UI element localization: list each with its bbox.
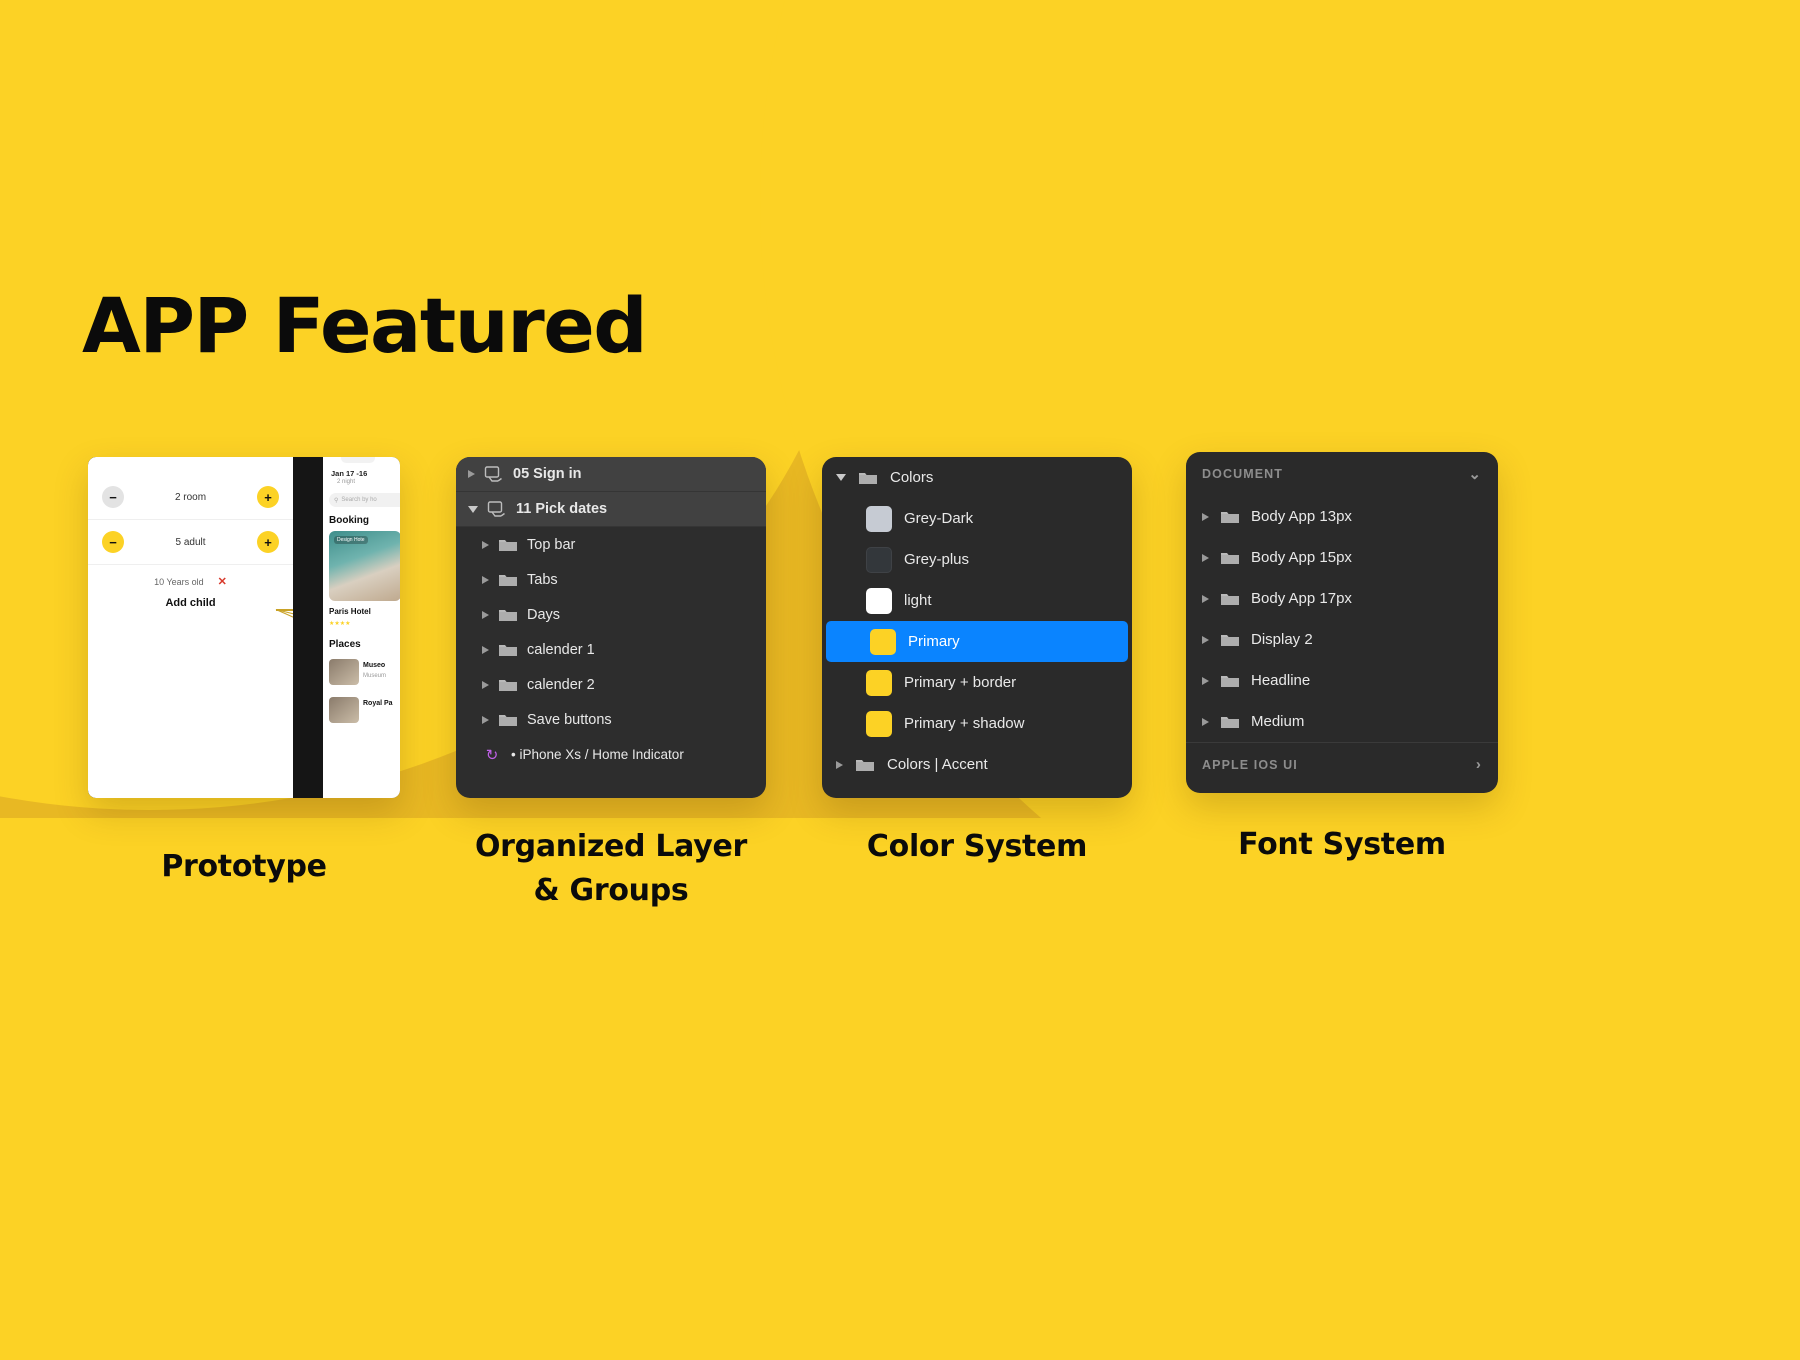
child-age-label: 10 Years old (154, 577, 204, 587)
caption-layers-line1: Organized Layer (436, 825, 786, 869)
caption-layers-line2: & Groups (436, 869, 786, 913)
folder-icon (498, 572, 518, 588)
font-section-document[interactable]: DOCUMENT ⌄ (1186, 452, 1498, 496)
place-subtitle: Museum (363, 673, 386, 679)
layer-label: 05 Sign in (513, 466, 582, 482)
color-swatch (866, 670, 892, 696)
rooms-label: 2 room (175, 492, 206, 503)
folder-icon (1220, 714, 1240, 730)
color-swatch (866, 711, 892, 737)
layer-row-group[interactable]: Top bar (456, 527, 766, 562)
layers-panel[interactable]: 05 Sign in 11 Pick dates Top bar Tabs (456, 457, 766, 798)
color-label: Primary + border (904, 674, 1016, 691)
folder-icon (1220, 509, 1240, 525)
plus-icon[interactable]: + (257, 486, 279, 508)
section-booking-title: Booking (329, 515, 369, 526)
layer-label: calender 1 (527, 642, 595, 658)
layer-label: 11 Pick dates (516, 501, 607, 517)
chevron-down-icon[interactable] (836, 474, 846, 481)
search-input[interactable]: ⚲ Search by ho (329, 493, 400, 507)
color-row-primary-shadow[interactable]: Primary + shadow (822, 703, 1132, 744)
chevron-down-icon[interactable] (468, 506, 478, 513)
color-row-grey-plus[interactable]: Grey-plus (822, 539, 1132, 580)
search-icon: ⚲ (334, 497, 338, 504)
layer-row-group[interactable]: Tabs (456, 562, 766, 597)
color-row-light[interactable]: light (822, 580, 1132, 621)
layer-label: Tabs (527, 572, 558, 588)
chevron-right-icon[interactable] (1202, 636, 1209, 644)
color-label: Primary + shadow (904, 715, 1024, 732)
font-row-display-2[interactable]: Display 2 (1186, 619, 1498, 660)
place-thumbnail[interactable] (329, 659, 359, 685)
font-label: Body App 17px (1251, 590, 1352, 607)
font-row-body-15[interactable]: Body App 15px (1186, 537, 1498, 578)
layer-row-group[interactable]: Save buttons (456, 702, 766, 737)
hotel-card-image[interactable]: Design Hote (329, 531, 400, 601)
color-group-row[interactable]: Colors (822, 457, 1132, 498)
layer-row-artboard[interactable]: 11 Pick dates (456, 492, 766, 527)
color-row-primary-border[interactable]: Primary + border (822, 662, 1132, 703)
font-row-body-13[interactable]: Body App 13px (1186, 496, 1498, 537)
folder-icon (498, 712, 518, 728)
chevron-right-icon[interactable] (482, 646, 489, 654)
color-label: light (904, 592, 932, 609)
color-label: Grey-plus (904, 551, 969, 568)
prototype-screen-booking: Jan 17 -16 2 night ⚲ Search by ho Bookin… (323, 457, 400, 798)
font-label: Medium (1251, 713, 1304, 730)
layer-row-group[interactable]: calender 1 (456, 632, 766, 667)
layer-row-group[interactable]: Days (456, 597, 766, 632)
chevron-right-icon[interactable] (482, 576, 489, 584)
booking-date: Jan 17 -16 (331, 469, 367, 478)
chevron-right-icon[interactable] (1202, 595, 1209, 603)
color-group-label: Colors (890, 469, 933, 486)
folder-icon (1220, 632, 1240, 648)
prototype-preview-panel[interactable]: − 2 room + − 5 adult + 10 Years old ✕ Ad… (88, 457, 400, 798)
font-label: Body App 15px (1251, 549, 1352, 566)
section-places-title: Places (329, 639, 361, 650)
caption-colors: Color System (822, 825, 1132, 869)
color-system-panel[interactable]: Colors Grey-Dark Grey-plus light Primary… (822, 457, 1132, 798)
chevron-right-icon[interactable] (1202, 513, 1209, 521)
chevron-right-icon[interactable] (468, 470, 475, 478)
caption-fonts: Font System (1186, 823, 1498, 867)
search-placeholder: Search by ho (341, 497, 376, 503)
layer-label: calender 2 (527, 677, 595, 693)
chevron-down-icon[interactable]: ⌄ (1468, 465, 1482, 483)
chevron-right-icon[interactable] (482, 716, 489, 724)
minus-icon[interactable]: − (102, 531, 124, 553)
chevron-right-icon[interactable]: › (1476, 756, 1482, 773)
color-row-grey-dark[interactable]: Grey-Dark (822, 498, 1132, 539)
font-label: Body App 13px (1251, 508, 1352, 525)
folder-icon (498, 607, 518, 623)
layer-label: Days (527, 607, 560, 623)
caption-prototype: Prototype (88, 845, 400, 889)
color-group-label: Colors | Accent (887, 756, 988, 773)
folder-icon (498, 677, 518, 693)
color-swatch (870, 629, 896, 655)
phone-notch (341, 457, 375, 463)
adults-label: 5 adult (175, 537, 205, 548)
chevron-right-icon[interactable] (482, 681, 489, 689)
stepper-row-rooms[interactable]: − 2 room + (88, 475, 293, 520)
font-section-label: DOCUMENT (1202, 467, 1283, 481)
color-label: Grey-Dark (904, 510, 973, 527)
folder-icon (1220, 673, 1240, 689)
font-row-body-17[interactable]: Body App 17px (1186, 578, 1498, 619)
font-label: Headline (1251, 672, 1310, 689)
folder-icon (498, 537, 518, 553)
folder-icon (855, 757, 875, 773)
color-swatch (866, 588, 892, 614)
page-title: APP Featured (82, 288, 646, 364)
plus-icon[interactable]: + (257, 531, 279, 553)
layer-label: Top bar (527, 537, 575, 553)
layer-label: • iPhone Xs / Home Indicator (511, 747, 684, 762)
caption-layers: Organized Layer & Groups (436, 825, 786, 912)
color-group-row-accent[interactable]: Colors | Accent (822, 744, 1132, 785)
chevron-right-icon[interactable] (1202, 677, 1209, 685)
layer-row-symbol[interactable]: ↻ • iPhone Xs / Home Indicator (456, 737, 766, 772)
artboard-icon (487, 501, 507, 517)
layer-row-artboard[interactable]: 05 Sign in (456, 457, 766, 492)
stepper-row-adults[interactable]: − 5 adult + (88, 520, 293, 565)
child-age-row[interactable]: 10 Years old ✕ (88, 575, 293, 588)
folder-icon (498, 642, 518, 658)
folder-icon (1220, 550, 1240, 566)
font-system-panel[interactable]: DOCUMENT ⌄ Body App 13px Body App 15px B… (1186, 452, 1498, 793)
font-row-headline[interactable]: Headline (1186, 660, 1498, 701)
place-thumbnail[interactable] (329, 697, 359, 723)
hotel-card-title: Paris Hotel (329, 607, 371, 616)
color-label: Primary (908, 633, 960, 650)
hotel-card-tag: Design Hote (334, 536, 368, 544)
color-swatch (866, 506, 892, 532)
chevron-right-icon[interactable] (836, 761, 843, 769)
booking-nights: 2 night (337, 479, 355, 485)
hotel-card-stars: ★★★★ (329, 620, 351, 627)
place-title: Museo (363, 662, 385, 669)
chevron-right-icon[interactable] (1202, 554, 1209, 562)
font-label: Display 2 (1251, 631, 1313, 648)
chevron-right-icon[interactable] (482, 541, 489, 549)
color-row-primary[interactable]: Primary (826, 621, 1128, 662)
add-child-button[interactable]: Add child (88, 597, 293, 609)
chevron-right-icon[interactable] (482, 611, 489, 619)
prototype-screen-guests: − 2 room + − 5 adult + 10 Years old ✕ Ad… (88, 457, 293, 798)
artboard-icon (484, 466, 504, 482)
layer-row-group[interactable]: calender 2 (456, 667, 766, 702)
folder-icon (858, 470, 878, 486)
symbol-icon: ↻ (482, 746, 502, 764)
minus-icon[interactable]: − (102, 486, 124, 508)
place-title: Royal Pa (363, 700, 393, 707)
font-section-label: APPLE IOS UI (1202, 758, 1298, 772)
color-swatch (866, 547, 892, 573)
folder-icon (1220, 591, 1240, 607)
remove-child-icon[interactable]: ✕ (218, 575, 227, 588)
chevron-right-icon[interactable] (1202, 718, 1209, 726)
background-bottom-band (0, 818, 1800, 1360)
prototype-gap (293, 457, 323, 798)
font-section-apple-ios-ui[interactable]: APPLE IOS UI › (1186, 742, 1498, 786)
layer-label: Save buttons (527, 712, 612, 728)
font-row-medium[interactable]: Medium (1186, 701, 1498, 742)
